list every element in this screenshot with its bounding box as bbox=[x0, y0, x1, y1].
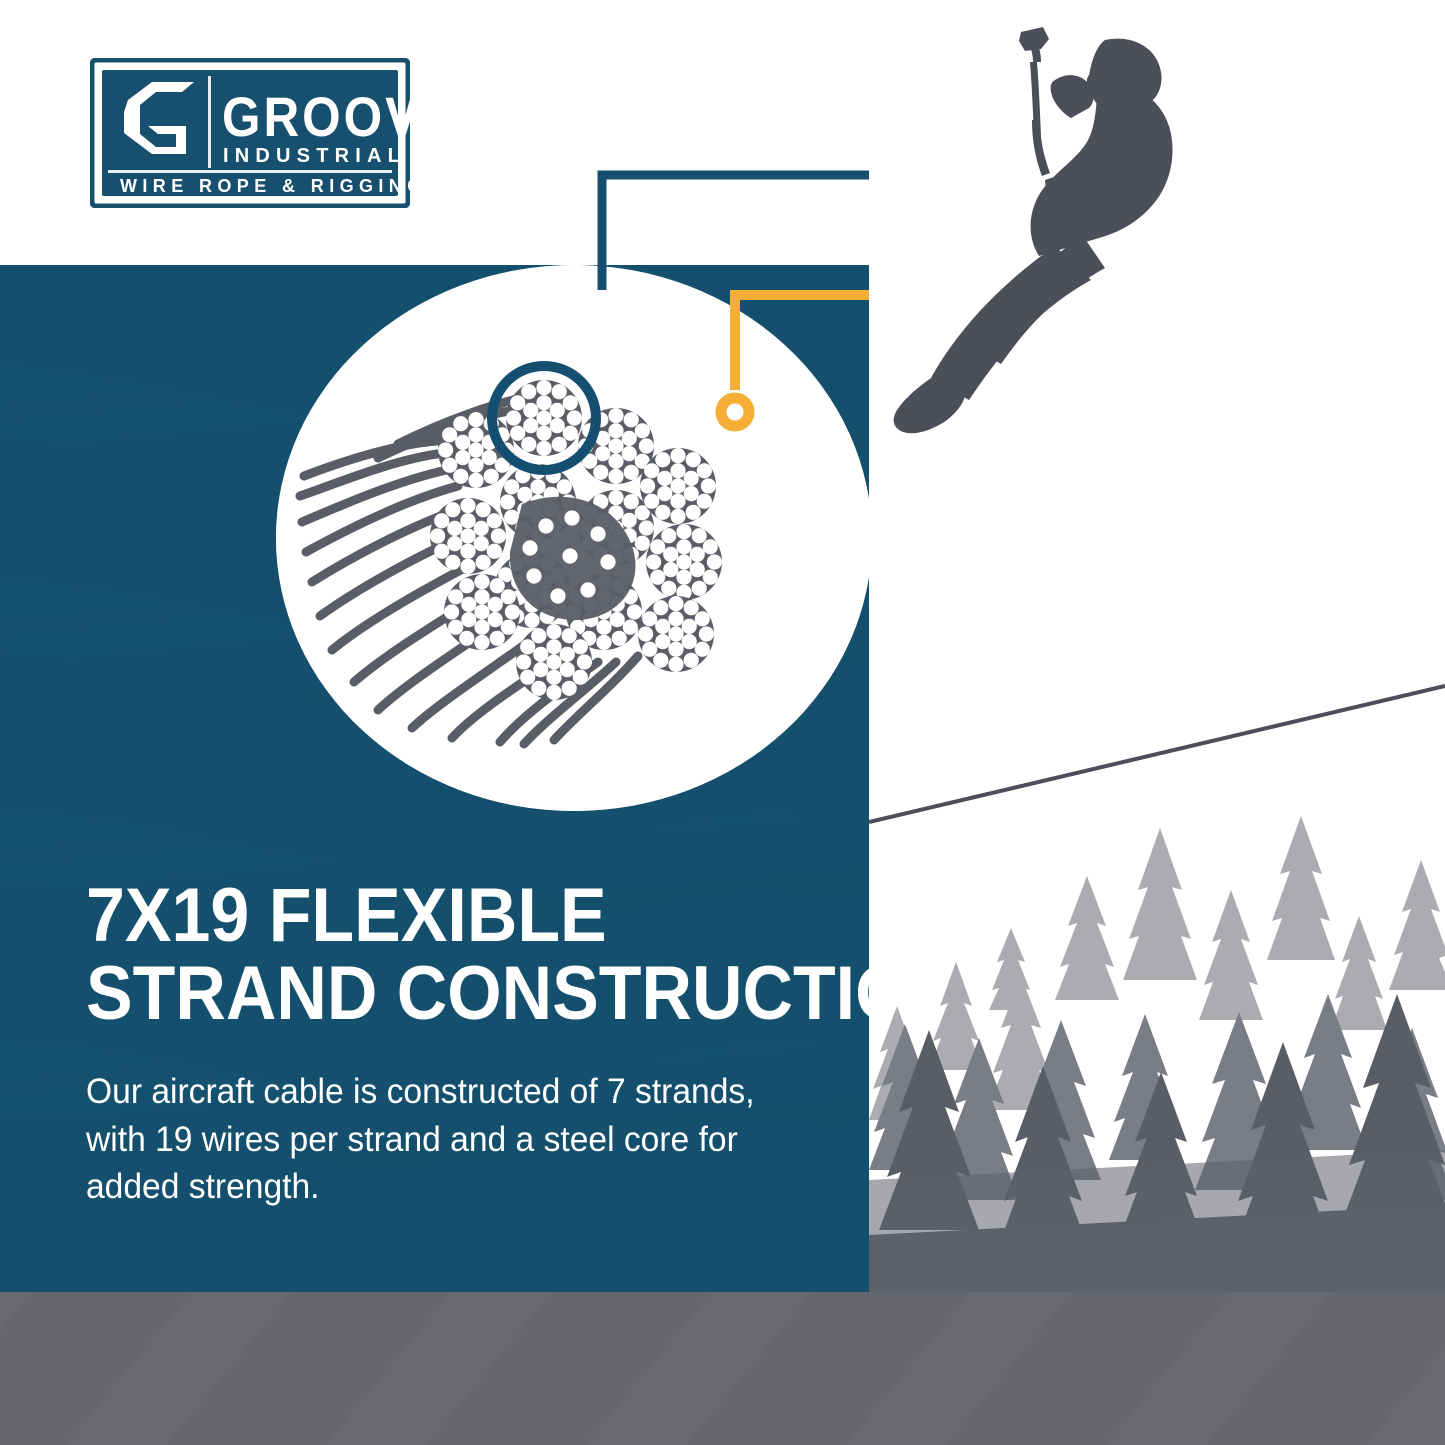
brand-subtitle: INDUSTRIAL bbox=[223, 145, 406, 167]
zipline-scene bbox=[869, 0, 1445, 1292]
body-paragraph: Our aircraft cable is constructed of 7 s… bbox=[86, 1068, 758, 1210]
brand-tagline: WIRE ROPE & RIGGING bbox=[120, 176, 410, 196]
svg-text:INDUSTRIAL: INDUSTRIAL bbox=[223, 145, 406, 167]
svg-text:WIRE ROPE & RIGGING: WIRE ROPE & RIGGING bbox=[120, 176, 410, 196]
wire-rope-illustration bbox=[286, 290, 806, 760]
svg-text:GROOVE: GROOVE bbox=[222, 86, 410, 149]
headline-line-1: 7X19 FLEXIBLE bbox=[86, 880, 785, 952]
infographic-canvas: 7 STRANDS 19 WIRES PER STRAND HOT DIP GA… bbox=[0, 0, 1445, 1445]
wire-marker-ring bbox=[721, 398, 749, 426]
brand-logo[interactable]: GROOVE INDUSTRIAL WIRE ROPE & RIGGING bbox=[90, 58, 410, 208]
headline-line-2: STRAND CONSTRUCTION bbox=[86, 958, 785, 1030]
bottom-bar-stripes bbox=[0, 1292, 1445, 1445]
brand-wordmark: GROOVE bbox=[222, 86, 410, 149]
headline-block: 7X19 FLEXIBLE STRAND CONSTRUCTION Our ai… bbox=[86, 880, 846, 1210]
bottom-bar bbox=[0, 1292, 1445, 1445]
